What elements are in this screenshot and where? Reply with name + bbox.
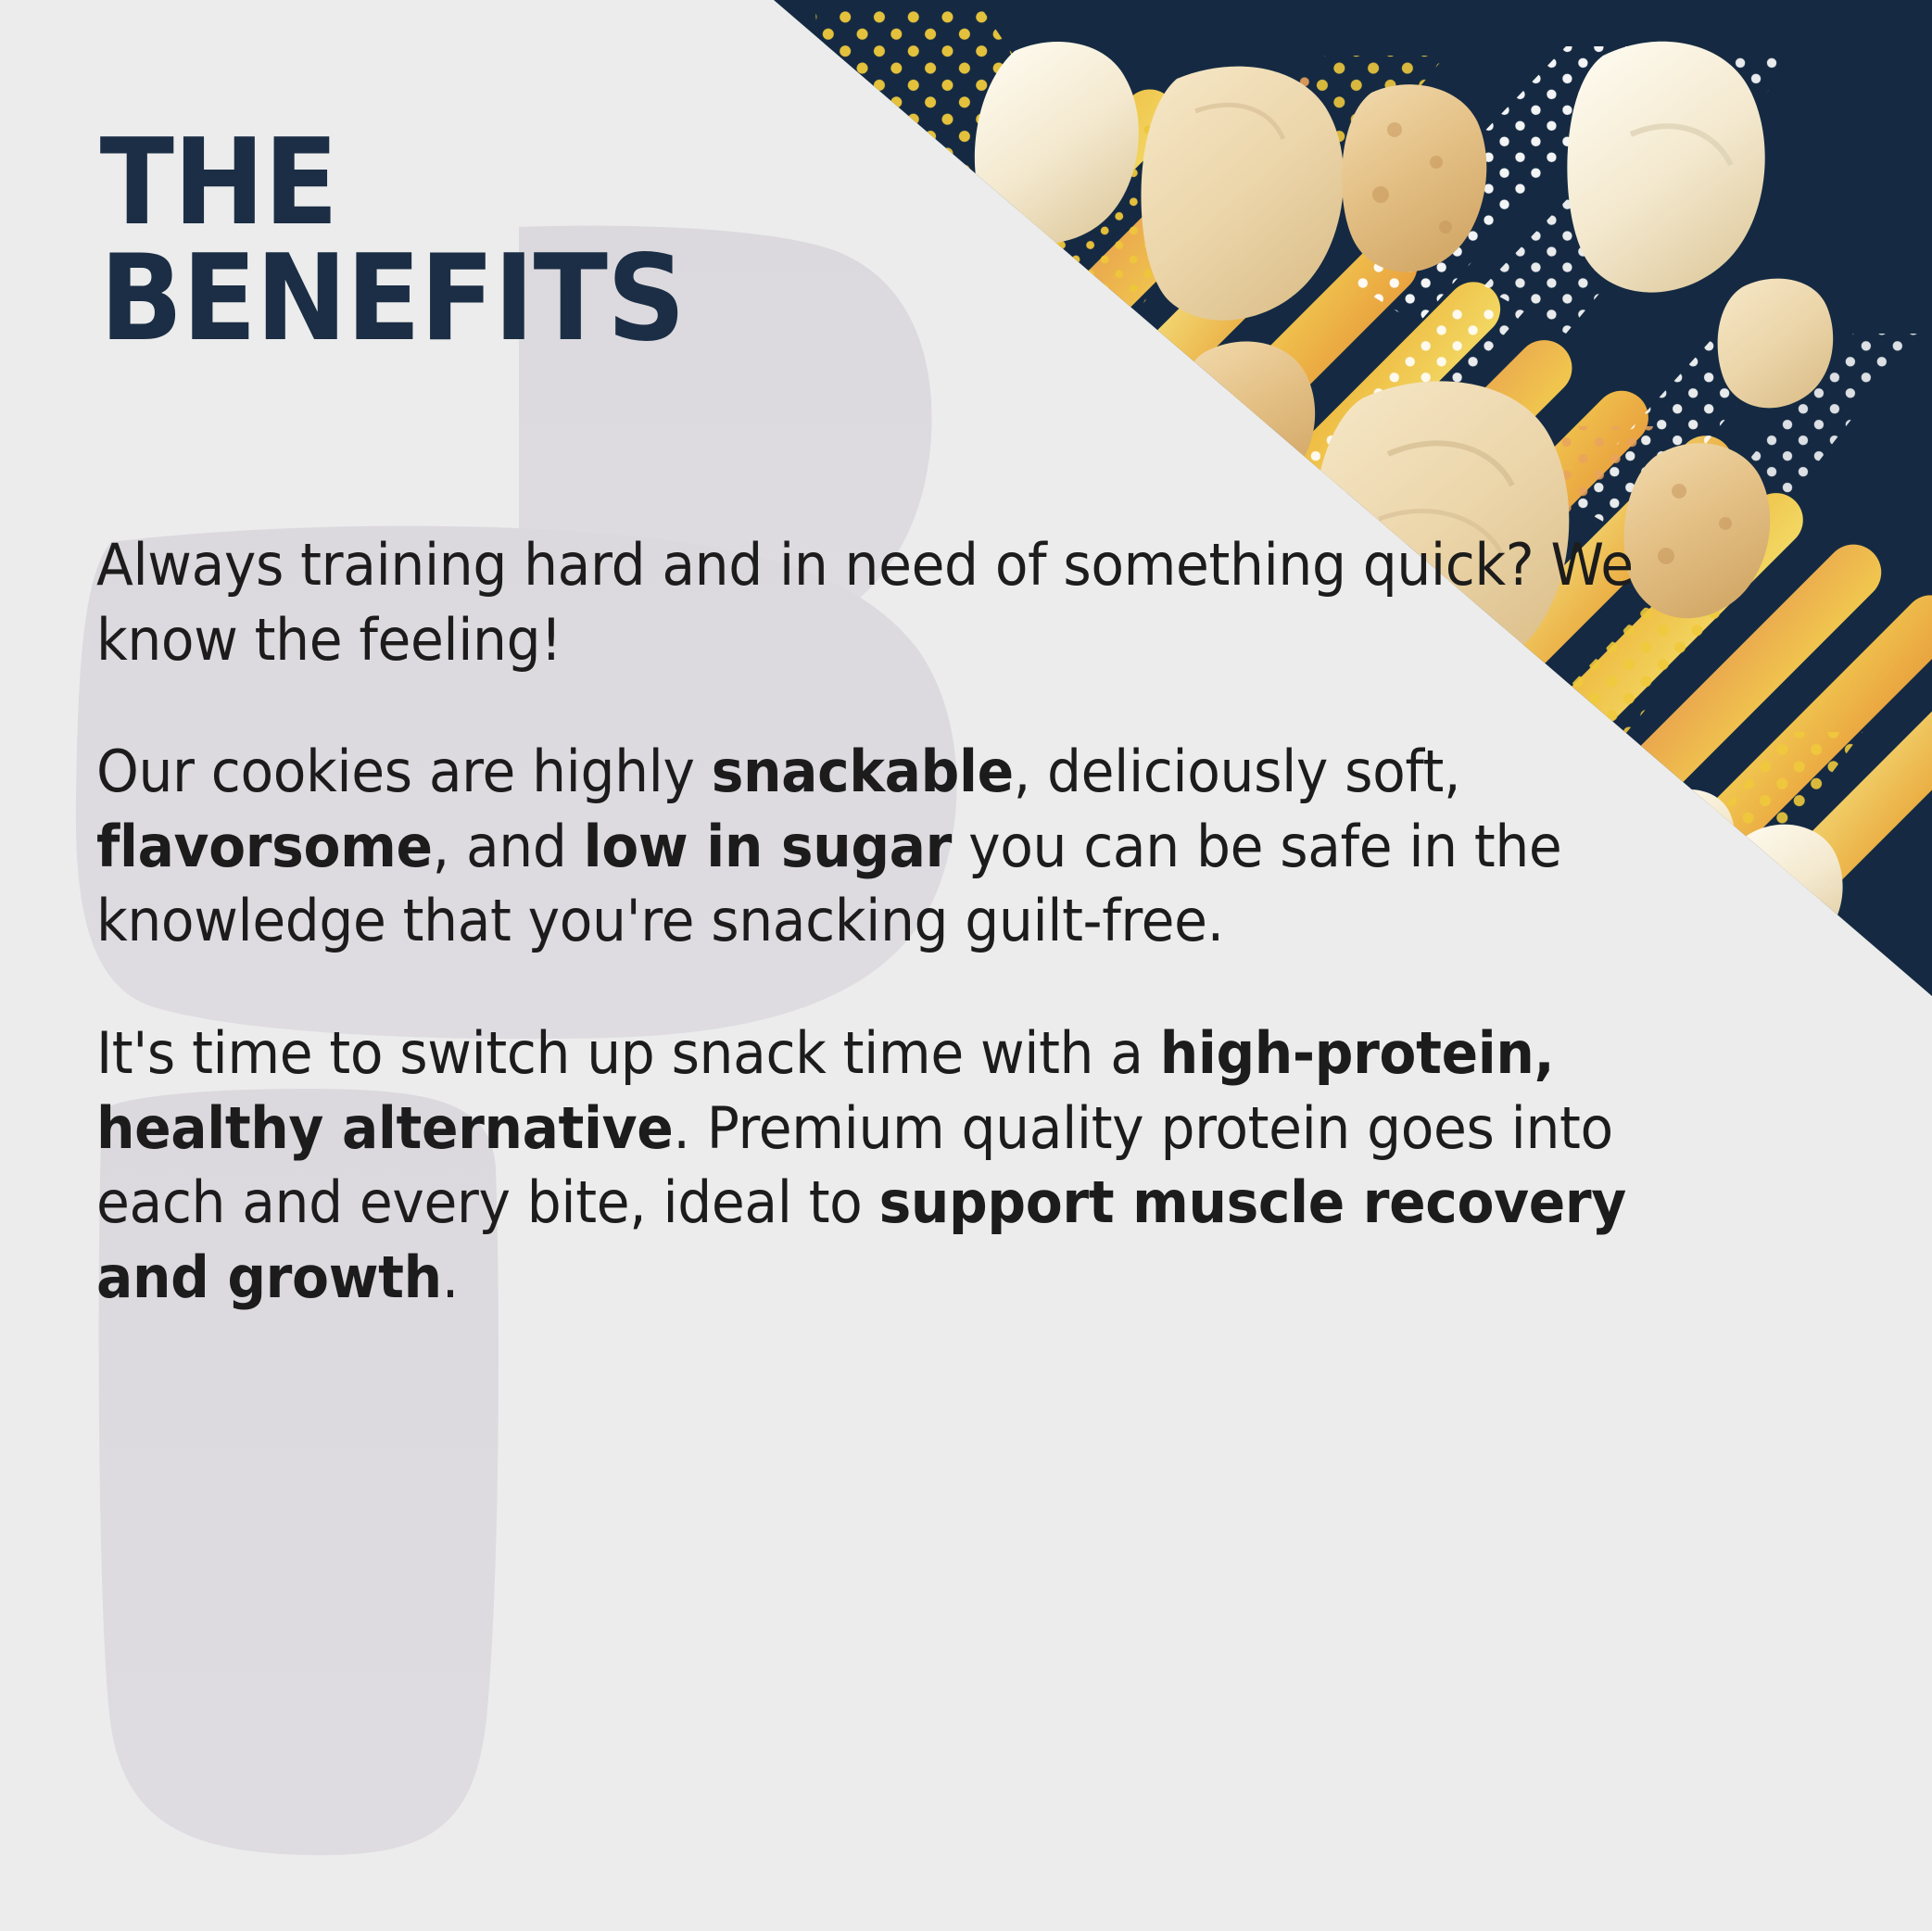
p2-bold-low-in-sugar: low in sugar xyxy=(584,813,952,880)
benefits-poster: THE BENEFITS Always training hard and in… xyxy=(0,0,1932,1931)
p2-bold-snackable: snackable xyxy=(712,738,1014,805)
page-title: THE BENEFITS xyxy=(96,125,949,358)
body-copy: Always training hard and in need of some… xyxy=(96,528,1690,1315)
title-line-1: THE xyxy=(100,125,949,241)
p2-bold-flavorsome: flavorsome xyxy=(96,813,433,880)
text-column: THE BENEFITS Always training hard and in… xyxy=(96,0,1838,1931)
title-line-2: BENEFITS xyxy=(100,241,949,357)
paragraph-1: Always training hard and in need of some… xyxy=(96,528,1690,677)
p2-segment-d: , and xyxy=(433,813,584,880)
paragraph-2: Our cookies are highly snackable, delici… xyxy=(96,735,1690,959)
p3-segment-d: . xyxy=(442,1243,459,1311)
paragraph-3: It's time to switch up snack time with a… xyxy=(96,1016,1690,1315)
paragraph-1-text: Always training hard and in need of some… xyxy=(96,531,1634,674)
p2-segment-c: , deliciously soft, xyxy=(1014,738,1460,805)
p3-segment-a: It's time to switch up snack time with a xyxy=(96,1019,1160,1087)
p2-segment-a: Our cookies are highly xyxy=(96,738,712,805)
